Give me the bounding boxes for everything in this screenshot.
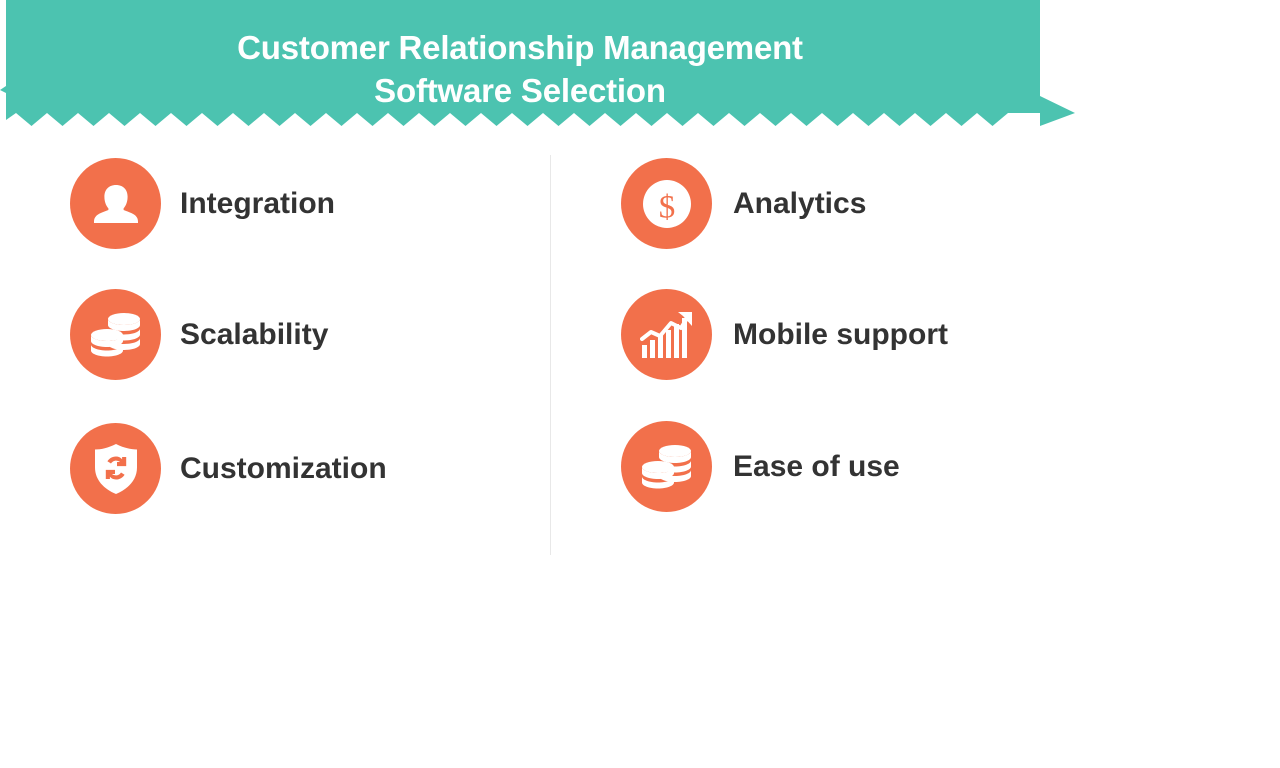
features-section: Integration — [0, 126, 1280, 768]
feature-icon-integration — [70, 158, 161, 249]
dollar-coin-icon: $ — [638, 175, 696, 233]
header-banner: Customer Relationship Management Softwar… — [0, 0, 1075, 126]
feature-item-mobile-support[interactable]: Mobile support — [621, 289, 948, 380]
feature-item-integration[interactable]: Integration — [70, 158, 335, 249]
feature-label-ease-of-use: Ease of use — [733, 450, 900, 484]
feature-label-scalability: Scalability — [180, 318, 328, 352]
coin-stack-icon — [90, 310, 142, 360]
feature-item-customization[interactable]: Customization — [70, 423, 387, 514]
feature-item-ease-of-use[interactable]: Ease of use — [621, 421, 900, 512]
feature-label-customization: Customization — [180, 452, 387, 486]
feature-icon-analytics: $ — [621, 158, 712, 249]
feature-icon-ease-of-use — [621, 421, 712, 512]
feature-label-integration: Integration — [180, 187, 335, 221]
feature-item-analytics[interactable]: $ Analytics — [621, 158, 866, 249]
feature-label-mobile-support: Mobile support — [733, 318, 948, 352]
feature-label-analytics: Analytics — [733, 187, 866, 221]
coin-stack-icon — [641, 442, 693, 492]
growth-chart-icon — [640, 310, 694, 360]
column-divider — [550, 155, 551, 555]
feature-item-scalability[interactable]: Scalability — [70, 289, 328, 380]
banner-shape — [0, 0, 1075, 126]
svg-text:$: $ — [658, 189, 675, 225]
user-silhouette-icon — [91, 179, 141, 229]
feature-icon-scalability — [70, 289, 161, 380]
shield-refresh-icon — [92, 443, 140, 495]
feature-icon-customization — [70, 423, 161, 514]
feature-icon-mobile-support — [621, 289, 712, 380]
